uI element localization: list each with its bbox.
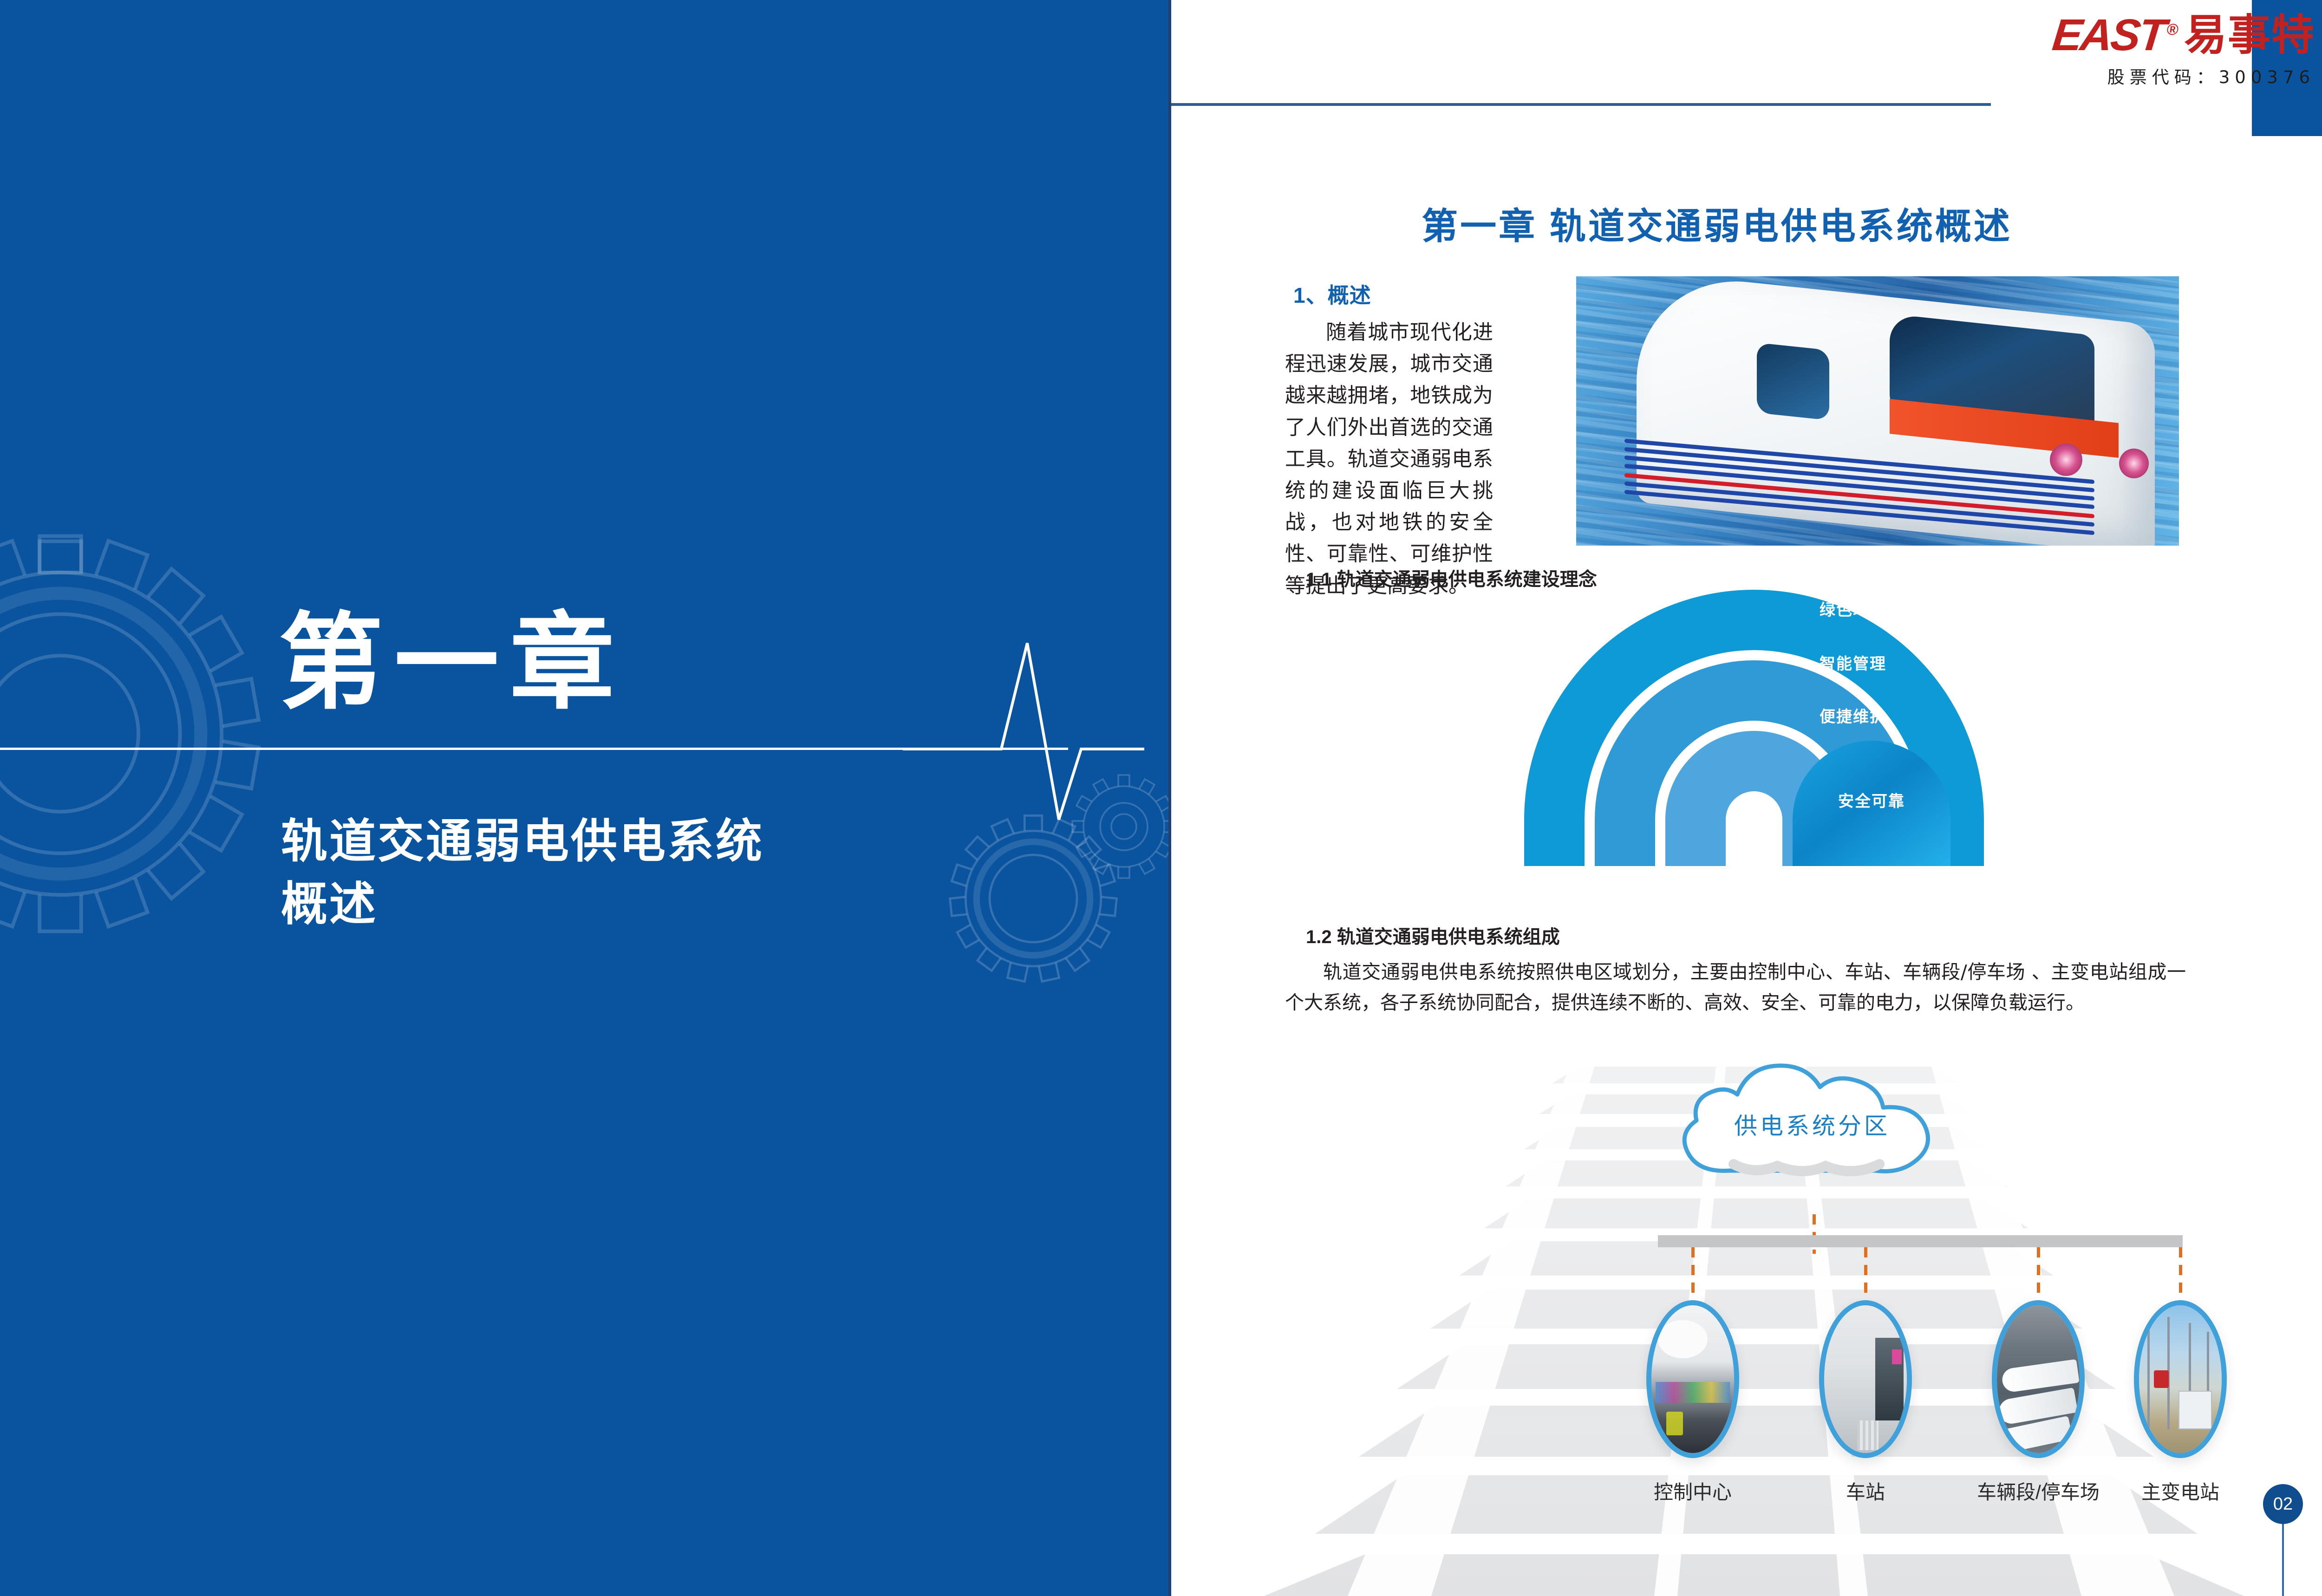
node-caption-2: 车站 <box>1846 1477 1885 1505</box>
page-number-badge: 02 <box>2263 1484 2303 1524</box>
distribution-bus-bar <box>1658 1235 2183 1247</box>
cloud-node: 供电系统分区 <box>1638 1038 1986 1224</box>
header-rule-line <box>1171 103 1991 106</box>
brand-logo-block: EAST® 易事特 股票代码：300376 <box>2053 14 2315 88</box>
node-photo-station <box>1819 1300 1912 1458</box>
section-1-2-paragraph: 轨道交通弱电供电系统按照供电区域划分，主要由控制中心、车站、车辆段/停车场 、主… <box>1285 957 2186 1018</box>
connector-stem-2 <box>1864 1247 1867 1307</box>
concept-arch-diagram: 绿色环保 智能管理 便捷维护 安全可靠 <box>1515 580 1993 866</box>
connector-stem-top <box>1813 1214 1816 1254</box>
cover-subtitle-line2: 概述 <box>281 873 764 936</box>
high-speed-train-photo <box>1576 276 2179 546</box>
node-photo-main-substation <box>2134 1300 2227 1458</box>
node-caption-1: 控制中心 <box>1654 1477 1732 1505</box>
section-heading-1: 1、概述 <box>1293 279 1371 309</box>
stock-code-text: 股票代码：300376 <box>2053 63 2315 88</box>
connector-stem-1 <box>1691 1247 1695 1307</box>
section-1-2-body: 轨道交通弱电供电系统按照供电区域划分，主要由控制中心、车站、车辆段/停车场 、主… <box>1285 957 2186 1018</box>
heartbeat-line-icon <box>903 629 1144 834</box>
registered-trademark-icon: ® <box>2165 21 2177 39</box>
cover-subtitle: 轨道交通弱电供电系统 概述 <box>281 810 764 936</box>
node-caption-3: 车辆段/停车场 <box>1977 1477 2100 1505</box>
right-content-page: EAST® 易事特 股票代码：300376 第一章 轨道交通弱电供电系统概述 1… <box>1171 0 2322 1596</box>
arch-label-3: 便捷维护 <box>1820 704 1886 727</box>
connector-stem-4 <box>2179 1247 2182 1307</box>
left-chapter-cover-page: 第一章 轨道交通弱电供电系统 概述 <box>0 0 1168 1596</box>
section-1-body: 随着城市现代化进程迅速发展，城市交通越来越拥堵，地铁成为了人们外出首选的交通工具… <box>1285 317 1493 602</box>
page-number-stem <box>2282 1523 2284 1596</box>
cover-subtitle-line1: 轨道交通弱电供电系统 <box>281 810 764 873</box>
node-depot-yard[interactable]: 车辆段/停车场 <box>1992 1300 2085 1458</box>
node-station[interactable]: 车站 <box>1819 1300 1912 1458</box>
page-title: 第一章 轨道交通弱电供电系统概述 <box>1171 197 2263 249</box>
cloud-label: 供电系统分区 <box>1638 1107 1986 1141</box>
arch-label-4: 安全可靠 <box>1838 788 1905 811</box>
section-1-paragraph: 随着城市现代化进程迅速发展，城市交通越来越拥堵，地铁成为了人们外出首选的交通工具… <box>1285 317 1493 602</box>
brand-chinese-name: 易事特 <box>2184 14 2315 57</box>
node-photo-control-center <box>1646 1300 1739 1458</box>
arch-label-1: 绿色环保 <box>1820 597 1886 620</box>
node-photo-depot-yard <box>1992 1300 2085 1458</box>
node-caption-4: 主变电站 <box>2141 1477 2219 1505</box>
connector-stem-3 <box>2037 1247 2040 1307</box>
arch-label-2: 智能管理 <box>1820 651 1886 674</box>
node-row: 控制中心 车站 车辆段/停车场 <box>1171 1300 2322 1495</box>
node-main-substation[interactable]: 主变电站 <box>2134 1300 2227 1458</box>
east-wordmark-text: EAST <box>2050 10 2166 60</box>
cover-chapter-label: 第一章 <box>279 611 626 715</box>
page-spread: 第一章 轨道交通弱电供电系统 概述 <box>0 0 2322 1596</box>
east-wordmark-logo: EAST® <box>2050 14 2178 56</box>
node-control-center[interactable]: 控制中心 <box>1646 1300 1739 1458</box>
section-heading-1-2: 1.2 轨道交通弱电供电系统组成 <box>1306 922 1560 949</box>
